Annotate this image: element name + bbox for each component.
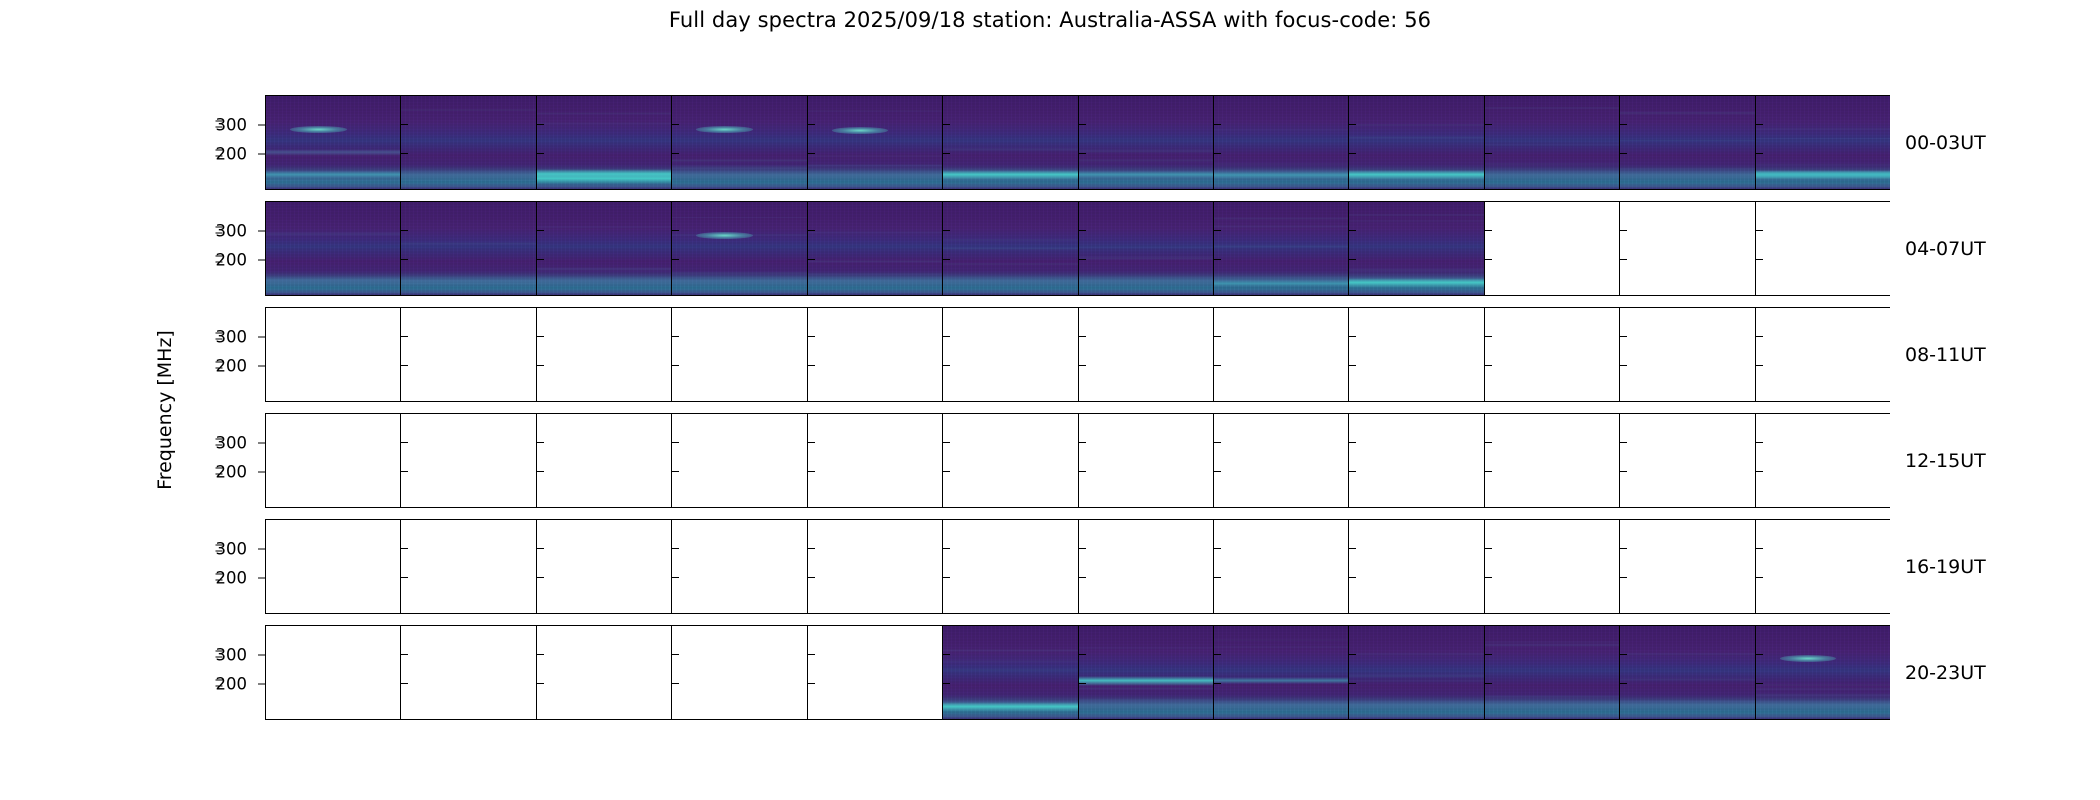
y-axis-tick (1079, 577, 1086, 578)
y-axis-tick (537, 259, 544, 260)
y-axis-tick (1349, 548, 1356, 549)
spectrogram-panel-empty (1755, 201, 1890, 296)
y-axis-tick (1485, 230, 1492, 231)
spectrogram-panel-empty (265, 307, 400, 402)
y-axis-tick (1349, 230, 1356, 231)
spectrogram-texture (1485, 96, 1619, 189)
y-axis-tick (216, 686, 223, 687)
y-axis-tick (1349, 336, 1356, 337)
y-axis-tick (943, 153, 950, 154)
y-axis-tick-label: 200 (216, 145, 248, 164)
y-axis-tick (1756, 548, 1763, 549)
y-axis-tick (401, 259, 408, 260)
y-axis-tick (808, 259, 815, 260)
spectrogram-panel (400, 201, 535, 296)
y-axis-tick-label: 200 (216, 675, 248, 694)
y-axis-tick (258, 578, 265, 579)
y-axis-tick (1214, 577, 1221, 578)
spectrogram-panel (1619, 95, 1754, 190)
y-axis-tick (1079, 230, 1086, 231)
y-axis-tick (216, 444, 223, 445)
y-axis-tick (258, 654, 265, 655)
spectrogram-panel-empty (400, 413, 535, 508)
y-axis-tick (216, 680, 223, 681)
spectrogram-panel (1078, 95, 1213, 190)
spectrogram-panel-empty (1078, 519, 1213, 614)
spectrogram-texture (1620, 96, 1754, 189)
spectrogram-row: 300200 (265, 307, 1890, 402)
spectrogram-panel-empty (1484, 307, 1619, 402)
spectrogram-texture (1349, 202, 1483, 295)
y-axis-tick (258, 230, 265, 231)
y-axis-tick (1485, 336, 1492, 337)
y-axis-tick (672, 548, 679, 549)
y-axis-tick (258, 548, 265, 549)
y-axis-tick (1756, 654, 1763, 655)
y-axis-tick (216, 232, 223, 233)
spectrogram-panel (1213, 201, 1348, 296)
spectrogram-texture (1214, 96, 1348, 189)
y-axis-tick (1079, 153, 1086, 154)
y-axis-tick (672, 259, 679, 260)
y-axis-tick (1079, 259, 1086, 260)
y-axis-tick (1756, 577, 1763, 578)
y-axis-tick (1214, 124, 1221, 125)
y-axis-tick (258, 336, 265, 337)
y-axis-tick (1349, 442, 1356, 443)
spectrogram-panel-empty: 15 (400, 625, 535, 720)
spectrogram-texture (943, 202, 1077, 295)
spectrogram-panel-empty (1755, 413, 1890, 508)
y-axis-tick (1214, 654, 1221, 655)
y-axis-tick (1079, 471, 1086, 472)
spectrogram-row: 300200 (265, 95, 1890, 190)
row-label-16-19ut: 16-19UT (1905, 556, 1986, 578)
y-axis-tick (1214, 230, 1221, 231)
y-axis-tick (1620, 230, 1627, 231)
y-axis-tick (672, 365, 679, 366)
y-axis-tick (943, 683, 950, 684)
spectrogram-texture (266, 202, 400, 295)
y-axis-tick (537, 548, 544, 549)
y-axis-tick-label: 200 (216, 569, 248, 588)
spectrogram-panel-empty (807, 413, 942, 508)
y-axis-tick (216, 126, 223, 127)
y-axis-tick (537, 442, 544, 443)
y-axis-tick (216, 574, 223, 575)
y-axis-tick (1349, 577, 1356, 578)
y-axis-tick (258, 442, 265, 443)
spectrogram-texture (1079, 96, 1213, 189)
y-axis-tick (537, 577, 544, 578)
y-axis-tick (1756, 471, 1763, 472)
y-axis-tick (1620, 365, 1627, 366)
y-axis-tick (808, 365, 815, 366)
y-axis-tick (943, 259, 950, 260)
spectrogram-panel-empty (1213, 307, 1348, 402)
y-axis-tick (258, 578, 265, 579)
spectrogram-panel: 15 (1484, 625, 1619, 720)
y-axis-tick (216, 438, 223, 439)
y-axis-tick (943, 548, 950, 549)
x-axis-tick (1620, 719, 1621, 720)
y-axis-tick (537, 336, 544, 337)
y-axis-tick (943, 471, 950, 472)
y-axis-tick (216, 362, 223, 363)
y-axis-tick (1485, 365, 1492, 366)
y-axis-tick (401, 153, 408, 154)
spectrogram-panel-empty (536, 413, 671, 508)
spectrogram-panel-empty (1619, 307, 1754, 402)
row-label-20-23ut: 20-23UT (1905, 662, 1986, 684)
x-axis-tick (1485, 719, 1486, 720)
spectrogram-panel-empty (1484, 413, 1619, 508)
spectrogram-texture (1485, 626, 1619, 719)
y-axis-tick (1620, 259, 1627, 260)
y-axis-tick-label: 300 (216, 433, 248, 452)
row-label-12-15ut: 12-15UT (1905, 450, 1986, 472)
y-axis-tick (401, 548, 408, 549)
spectrogram-panel-empty (265, 413, 400, 508)
y-axis-tick-label: 300 (216, 327, 248, 346)
y-axis-tick (258, 154, 265, 155)
y-axis-tick (1756, 442, 1763, 443)
y-axis-tick (943, 230, 950, 231)
spectrogram-panel (671, 95, 806, 190)
y-axis-tick (1349, 654, 1356, 655)
spectrogram-panel-empty (1484, 519, 1619, 614)
spectrogram-panel-empty (1755, 519, 1890, 614)
y-axis-tick-label: 300 (216, 221, 248, 240)
y-axis-label: Frequency [MHz] (150, 95, 180, 725)
spectrogram-panel (265, 201, 400, 296)
y-axis-tick (1485, 259, 1492, 260)
y-axis-tick (258, 366, 265, 367)
y-axis-tick (1485, 548, 1492, 549)
y-axis-tick (1620, 153, 1627, 154)
y-axis-tick (672, 654, 679, 655)
y-axis-tick (216, 332, 223, 333)
spectrogram-panel-empty (1619, 413, 1754, 508)
spectrogram-panel-empty (400, 519, 535, 614)
y-axis-tick (1349, 153, 1356, 154)
y-axis-tick (216, 338, 223, 339)
x-axis-tick (672, 719, 673, 720)
y-axis-tick (1349, 471, 1356, 472)
y-axis-tick (258, 154, 265, 155)
y-axis-tick (808, 153, 815, 154)
spectrogram-panel (265, 95, 400, 190)
spectrogram-panel-empty (1484, 201, 1619, 296)
y-axis-tick (1485, 442, 1492, 443)
y-axis-tick (1214, 683, 1221, 684)
spectrogram-panel-empty (536, 519, 671, 614)
spectrogram-panel-empty (942, 413, 1077, 508)
x-axis-tick (808, 719, 809, 720)
y-axis-tick (401, 124, 408, 125)
y-axis-tick (537, 230, 544, 231)
y-axis-tick (1214, 365, 1221, 366)
spectrogram-panel-empty (1348, 413, 1483, 508)
y-axis-tick (1079, 683, 1086, 684)
spectrogram-panel (942, 201, 1077, 296)
spectrogram-panel (1755, 95, 1890, 190)
spectrogram-texture (1349, 626, 1483, 719)
y-axis-tick (258, 654, 265, 655)
spectrogram-texture (943, 626, 1077, 719)
spectrogram-panel (807, 201, 942, 296)
spectrogram-panel (400, 95, 535, 190)
spectrogram-panel-empty (1078, 413, 1213, 508)
y-axis-tick (216, 650, 223, 651)
row-label-08-11ut: 08-11UT (1905, 344, 1986, 366)
y-axis-tick-label: 300 (216, 645, 248, 664)
y-axis-tick (537, 654, 544, 655)
y-axis-tick (1620, 577, 1627, 578)
spectrogram-texture (1079, 626, 1213, 719)
y-axis-tick (258, 230, 265, 231)
y-axis-tick (258, 336, 265, 337)
y-axis-tick (1079, 548, 1086, 549)
spectrogram-texture (1620, 626, 1754, 719)
y-axis-tick-label: 300 (216, 115, 248, 134)
spectrogram-texture (401, 96, 535, 189)
y-axis-tick (1214, 336, 1221, 337)
y-axis-tick (216, 256, 223, 257)
x-axis-tick (1756, 719, 1757, 720)
spectrogram-row: 001530450015304500153045300200 (265, 625, 1890, 720)
y-axis-tick (258, 684, 265, 685)
y-axis-tick (808, 230, 815, 231)
y-axis-tick (401, 577, 408, 578)
y-axis-tick (1349, 365, 1356, 366)
row-label-04-07ut: 04-07UT (1905, 238, 1986, 260)
y-axis-tick (1079, 654, 1086, 655)
y-axis-tick (1214, 153, 1221, 154)
y-axis-tick (672, 471, 679, 472)
x-axis-tick (943, 719, 944, 720)
y-axis-tick (672, 442, 679, 443)
spectrogram-panel-empty: 45 (671, 625, 806, 720)
y-axis-tick (1756, 124, 1763, 125)
y-axis-tick (258, 684, 265, 685)
y-axis-tick (1485, 654, 1492, 655)
spectrogram-panel-empty (807, 519, 942, 614)
y-axis-tick (258, 442, 265, 443)
y-axis-tick (216, 544, 223, 545)
y-axis-tick (943, 577, 950, 578)
y-axis-tick (1620, 336, 1627, 337)
y-axis-tick-label: 300 (216, 539, 248, 558)
x-axis-tick (1079, 719, 1080, 720)
y-axis-tick (943, 442, 950, 443)
spectrogram-panel-empty (1078, 307, 1213, 402)
spectrogram-panel-empty (807, 307, 942, 402)
spectrogram-panel-empty (1348, 307, 1483, 402)
spectrogram-row: 300200 (265, 519, 1890, 614)
spectrogram-panel-empty (671, 307, 806, 402)
y-axis-tick (1214, 548, 1221, 549)
y-axis-tick (258, 260, 265, 261)
y-axis-tick (401, 471, 408, 472)
spectrogram-panel (536, 95, 671, 190)
spectrogram-texture (672, 202, 806, 295)
y-axis-tick (1485, 577, 1492, 578)
spectrogram-panel: 30 (1078, 625, 1213, 720)
y-axis-tick (537, 124, 544, 125)
y-axis-tick (1079, 442, 1086, 443)
y-axis-tick (537, 471, 544, 472)
spectrogram-row: 300200 (265, 201, 1890, 296)
y-axis-tick (672, 230, 679, 231)
y-axis-label-text: Frequency [MHz] (154, 330, 176, 490)
spectrogram-panel-empty (265, 519, 400, 614)
y-axis-tick (258, 548, 265, 549)
y-axis-tick (1756, 336, 1763, 337)
spectrogram-panel-empty (942, 519, 1077, 614)
y-axis-tick (1485, 471, 1492, 472)
y-axis-tick (1214, 442, 1221, 443)
spectrogram-texture (1349, 96, 1483, 189)
y-axis-tick (216, 474, 223, 475)
y-axis-tick (1756, 683, 1763, 684)
spectrogram-panel: 45 (1755, 625, 1890, 720)
spectrogram-panel (671, 201, 806, 296)
y-axis-tick (1620, 442, 1627, 443)
x-axis-tick (266, 719, 267, 720)
y-axis-tick-label: 200 (216, 463, 248, 482)
y-axis-tick (216, 226, 223, 227)
spectrogram-panel-empty: 00 (265, 625, 400, 720)
spectrogram-panel (1484, 95, 1619, 190)
spectrogram-panel (536, 201, 671, 296)
y-axis-tick (216, 150, 223, 151)
figure-root: Full day spectra 2025/09/18 station: Aus… (0, 0, 2100, 800)
y-axis-tick (1756, 259, 1763, 260)
y-axis-tick (1485, 683, 1492, 684)
y-axis-tick (1756, 365, 1763, 366)
spectrogram-texture (1079, 202, 1213, 295)
spectrogram-panel (1078, 201, 1213, 296)
y-axis-tick (943, 336, 950, 337)
y-axis-tick (808, 336, 815, 337)
y-axis-tick (216, 120, 223, 121)
y-axis-tick (1079, 336, 1086, 337)
y-axis-tick (258, 472, 265, 473)
y-axis-tick (216, 368, 223, 369)
y-axis-tick (401, 654, 408, 655)
y-axis-tick (216, 656, 223, 657)
spectrogram-panel (942, 95, 1077, 190)
y-axis-tick (401, 683, 408, 684)
spectrogram-panel-empty (1619, 201, 1754, 296)
spectrogram-panel: 30 (1619, 625, 1754, 720)
y-axis-tick (808, 548, 815, 549)
spectrogram-panel-empty (1348, 519, 1483, 614)
y-axis-tick (1620, 683, 1627, 684)
y-axis-tick (1349, 683, 1356, 684)
spectrogram-texture (1756, 626, 1890, 719)
spectrogram-panel-empty (671, 413, 806, 508)
spectrogram-texture (266, 96, 400, 189)
y-axis-tick (672, 577, 679, 578)
y-axis-tick (672, 683, 679, 684)
spectrogram-panel (1348, 95, 1483, 190)
x-axis-tick (1214, 719, 1215, 720)
figure-title: Full day spectra 2025/09/18 station: Aus… (0, 8, 2100, 32)
y-axis-tick (1620, 548, 1627, 549)
y-axis-tick (258, 260, 265, 261)
spectrogram-texture (1756, 96, 1890, 189)
spectrogram-texture (1214, 202, 1348, 295)
x-axis-tick (537, 719, 538, 720)
spectrogram-panel-empty (400, 307, 535, 402)
y-axis-tick (1620, 124, 1627, 125)
y-axis-tick (808, 577, 815, 578)
y-axis-tick (808, 683, 815, 684)
y-axis-tick (1079, 124, 1086, 125)
x-axis-tick (401, 719, 402, 720)
y-axis-tick (808, 471, 815, 472)
y-axis-tick-label: 200 (216, 251, 248, 270)
spectrogram-texture (808, 96, 942, 189)
spectrogram-panel-empty: 00 (807, 625, 942, 720)
y-axis-tick (401, 336, 408, 337)
y-axis-tick (1485, 153, 1492, 154)
spectrogram-panel-empty (1213, 413, 1348, 508)
y-axis-tick (1485, 124, 1492, 125)
spectrogram-panel (1213, 95, 1348, 190)
y-axis-tick (216, 468, 223, 469)
y-axis-tick (672, 336, 679, 337)
spectrogram-texture (537, 96, 671, 189)
y-axis-tick (1349, 259, 1356, 260)
y-axis-tick (943, 365, 950, 366)
y-axis-tick (258, 366, 265, 367)
spectrogram-texture (808, 202, 942, 295)
y-axis-tick (216, 156, 223, 157)
spectrogram-texture (1214, 626, 1348, 719)
spectrogram-panel (807, 95, 942, 190)
y-axis-tick (1214, 259, 1221, 260)
y-axis-tick (216, 550, 223, 551)
y-axis-tick (401, 230, 408, 231)
y-axis-tick (537, 153, 544, 154)
y-axis-tick (808, 654, 815, 655)
spectrogram-panel (1348, 201, 1483, 296)
y-axis-tick-label: 200 (216, 357, 248, 376)
y-axis-tick (216, 262, 223, 263)
spectrogram-panel-empty (1755, 307, 1890, 402)
row-label-00-03ut: 00-03UT (1905, 132, 1986, 154)
spectrogram-panel: 00 (1348, 625, 1483, 720)
x-axis-tick (1349, 719, 1350, 720)
y-axis-tick (1756, 230, 1763, 231)
spectrogram-texture (943, 96, 1077, 189)
y-axis-tick (1349, 124, 1356, 125)
y-axis-tick (1079, 365, 1086, 366)
spectrogram-grid: 3002003002003002003002003002000015304500… (265, 95, 1890, 725)
y-axis-tick (537, 365, 544, 366)
y-axis-tick (258, 124, 265, 125)
y-axis-tick (808, 124, 815, 125)
y-axis-tick (808, 442, 815, 443)
y-axis-tick (1620, 654, 1627, 655)
y-axis-tick (258, 472, 265, 473)
y-axis-tick (537, 683, 544, 684)
spectrogram-panel-empty (942, 307, 1077, 402)
spectrogram-panel-empty: 30 (536, 625, 671, 720)
